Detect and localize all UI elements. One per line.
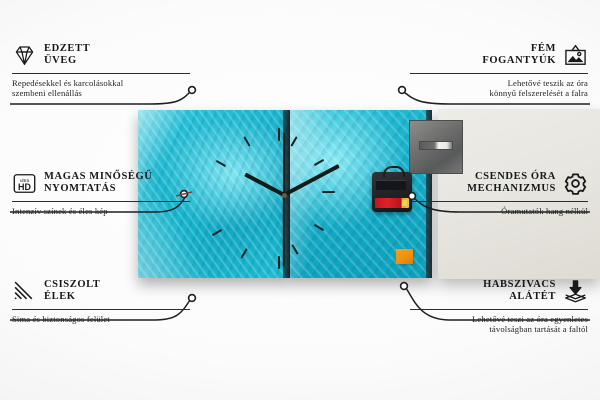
feature-title-line1: EDZETT [44,43,90,56]
feature-title: EDZETT ÜVEG [44,43,90,68]
feature-title-line2: ÜVEG [44,55,90,68]
feature-subtitle: Repedésekkel és karcolásokkal szembeni e… [12,78,190,99]
feature-foam-pad: HABSZIVACS ALÁTÉT Lehetővé teszi az óra … [410,276,588,335]
feature-subtitle-line1: Óramutatók hang nélkül [410,206,588,216]
clock-tick [212,229,223,236]
diamond-icon [12,43,37,68]
feature-title-line2: MECHANIZMUS [467,183,556,196]
infographic-canvas: EDZETT ÜVEG Repedésekkel és karcolásokka… [0,0,600,400]
clock-tick [290,136,297,147]
mechanism-body-strip [376,180,406,190]
picture-hanger-icon [563,43,588,68]
wire-endpoint-foam-pad [401,283,408,290]
feature-subtitle-line1: Sima és biztonságos felület [12,314,190,324]
feature-tempered-glass: EDZETT ÜVEG Repedésekkel és karcolásokka… [12,40,190,99]
feature-subtitle: Lehetővé teszi az óra egyenletes távolsá… [410,314,588,335]
clock-tick [314,159,325,166]
ultra-hd-icon-main: HD [18,181,31,191]
feature-subtitle: Lehetővé teszik az óra könnyű felszerelé… [410,78,588,99]
feature-header: FÉM FOGANTYÚK [410,40,588,70]
sanded-edges-icon [12,279,37,304]
feature-header: MAGAS MINŐSÉGŰ NYOMTATÁS ultra HD [12,168,190,198]
feature-subtitle-line2: távolságban tartását a faltól [410,324,588,334]
feature-subtitle: Óramutatók hang nélkül [410,206,588,216]
feature-title-line1: HABSZIVACS [483,279,556,292]
feature-divider [12,201,190,202]
feature-subtitle: Sima és biztonságos felület [12,314,190,324]
wire-endpoint-metal-handles [399,87,406,94]
clock-mechanism [372,172,412,212]
battery [375,198,409,208]
feature-title-line2: FOGANTYÚK [482,55,556,68]
hanger-slot [419,141,453,150]
feature-title: CSENDES ÓRA MECHANIZMUS [467,171,556,196]
feature-title: FÉM FOGANTYÚK [482,43,556,68]
feature-header: CSENDES ÓRA MECHANIZMUS [410,168,588,198]
feature-title: HABSZIVACS ALÁTÉT [483,279,556,304]
ultra-hd-icon: ultra HD [12,171,37,196]
feature-polished-edges: CSISZOLT ÉLEK Sima és biztonságos felüle… [12,276,190,324]
clock-tick [216,160,227,167]
feature-silent-clock-mechanism: CSENDES ÓRA MECHANIZMUS Óramutatók hang … [410,168,588,216]
feature-divider [12,309,190,310]
clock-tick [278,128,280,141]
feature-header: EDZETT ÜVEG [12,40,190,70]
feature-title-line2: ALÁTÉT [483,291,556,304]
feature-subtitle-line1: Repedésekkel és karcolásokkal [12,78,190,88]
feature-title-line2: NYOMTATÁS [44,183,152,196]
clock-center-pivot [282,193,287,198]
feature-divider [12,73,190,74]
feature-title-line1: CSENDES ÓRA [467,171,556,184]
clock-second-hand-tail [283,133,285,195]
feature-title-line1: FÉM [482,43,556,56]
clock-tick [291,244,298,255]
feature-subtitle-line1: Lehetővé teszi az óra egyenletes [410,314,588,324]
clock-tick [240,248,247,259]
clock-tick [314,224,325,231]
gear-icon [563,171,588,196]
feature-title-line1: MAGAS MINŐSÉGŰ [44,171,152,184]
feature-title-line1: CSISZOLT [44,279,100,292]
clock-second-hand [283,195,285,267]
feature-divider [410,201,588,202]
feature-title: CSISZOLT ÉLEK [44,279,100,304]
metal-hanger-plate [409,120,463,174]
feature-subtitle-line1: Intenzív színek és éles kép [12,206,190,216]
clock-tick [322,191,335,193]
foam-spacer-pad [396,249,413,264]
feature-subtitle-line2: könnyű felszerelését a falra [410,88,588,98]
feature-header: HABSZIVACS ALÁTÉT [410,276,588,306]
mechanism-hook [383,166,405,177]
feature-subtitle-line1: Lehetővé teszik az óra [410,78,588,88]
clock-tick [278,256,280,269]
feature-title: MAGAS MINŐSÉGŰ NYOMTATÁS [44,171,152,196]
feature-high-quality-print: MAGAS MINŐSÉGŰ NYOMTATÁS ultra HD Intenz… [12,168,190,216]
foam-pad-arrow-icon [563,279,588,304]
feature-metal-handles: FÉM FOGANTYÚK Lehetővé teszik az óra kön… [410,40,588,99]
clock-tick [243,136,250,147]
feature-header: CSISZOLT ÉLEK [12,276,190,306]
feature-title-line2: ÉLEK [44,291,100,304]
feature-divider [410,73,588,74]
feature-subtitle-line2: szembeni ellenállás [12,88,190,98]
feature-subtitle: Intenzív színek és éles kép [12,206,190,216]
feature-divider [410,309,588,310]
